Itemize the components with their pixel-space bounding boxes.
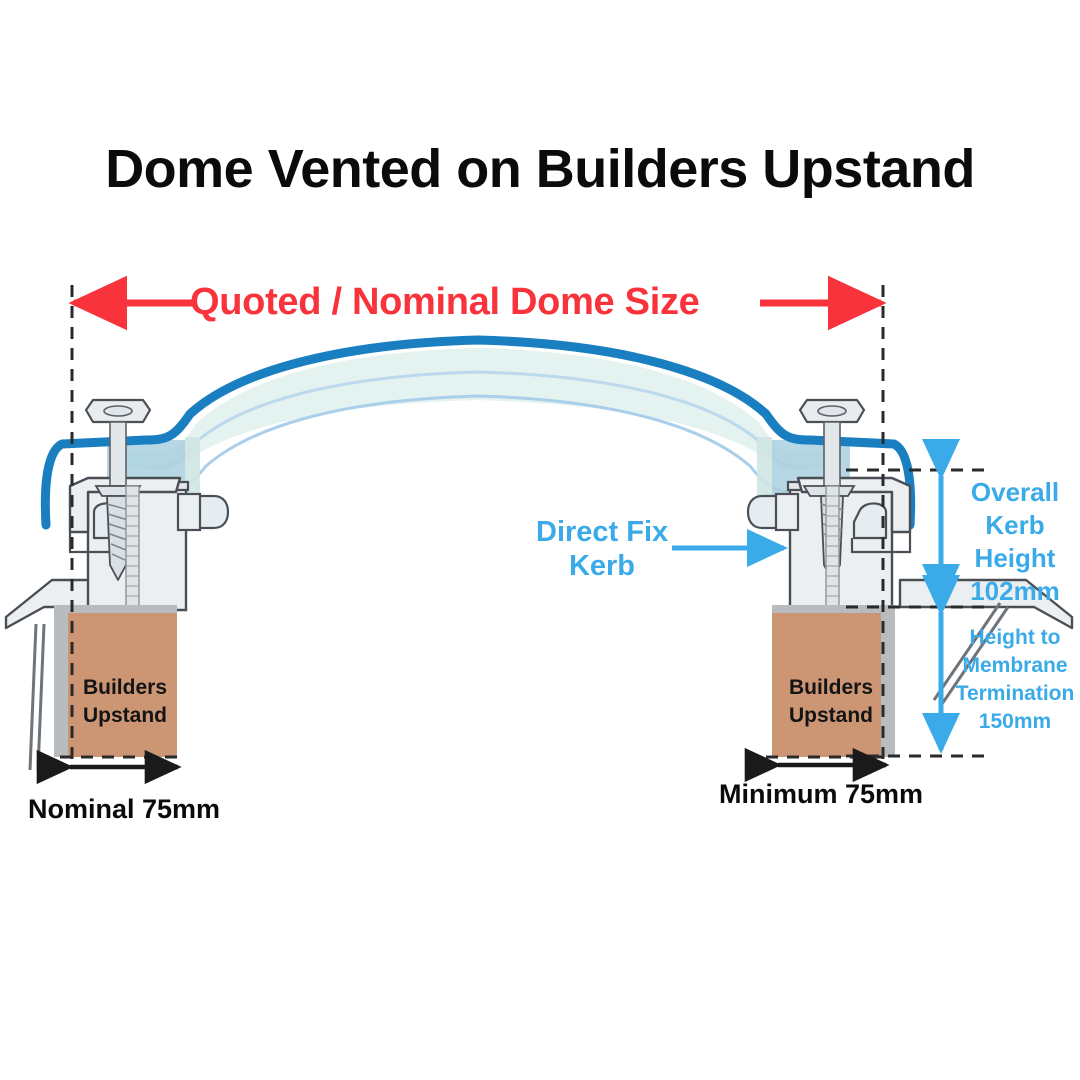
diagram-page: Dome Vented on Builders Upstand: [0, 0, 1080, 1080]
glazing-tint-right-2: [757, 437, 772, 500]
label-minimum-75mm: Minimum 75mm: [719, 779, 923, 810]
label-height-to-membrane-termination: Height to Membrane Termination 150mm: [953, 624, 1077, 736]
label-quoted-nominal-dome-size: Quoted / Nominal Dome Size: [190, 281, 700, 324]
membrane-strands-left: [30, 624, 44, 770]
glazing-inner-fill: [150, 348, 806, 470]
label-overall-kerb-height: Overall Kerb Height 102mm: [955, 476, 1075, 608]
label-direct-fix-kerb: Direct Fix Kerb: [536, 515, 668, 583]
kerb-knob-left-plate: [178, 494, 200, 530]
label-builders-upstand-left: Builders Upstand: [60, 674, 190, 730]
label-nominal-75mm: Nominal 75mm: [28, 794, 220, 825]
kerb-knob-right-plate: [776, 494, 798, 530]
label-builders-upstand-right: Builders Upstand: [766, 674, 896, 730]
